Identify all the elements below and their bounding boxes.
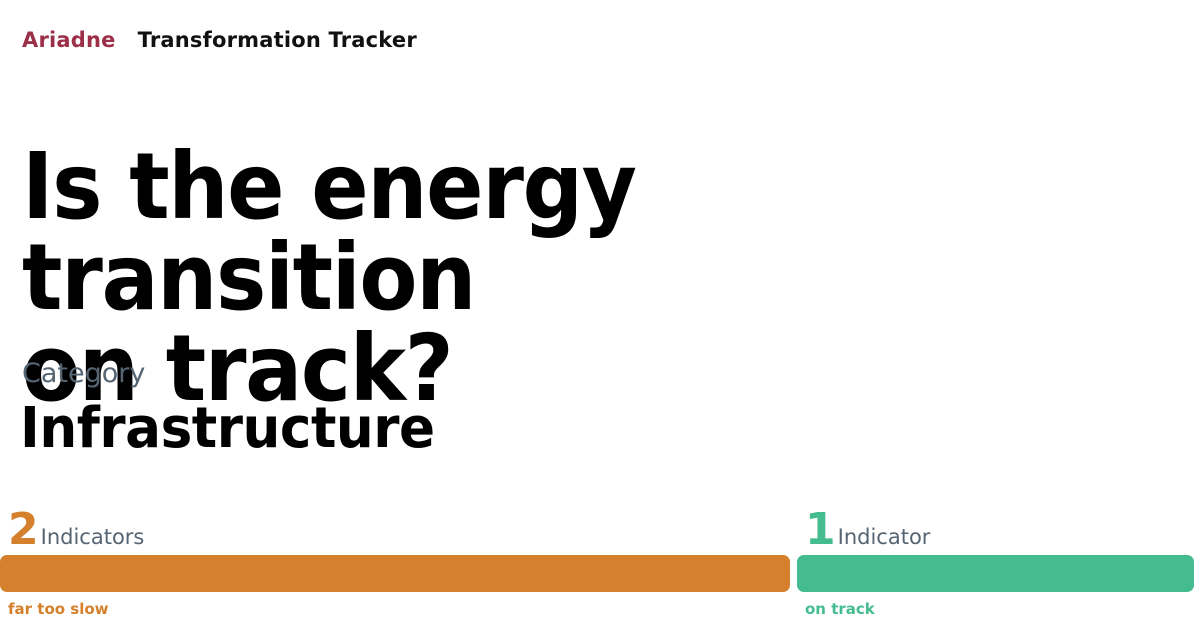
category-label: Category xyxy=(22,358,145,389)
page-title-line-1: Is the energy transition xyxy=(22,133,636,331)
segment-far-too-slow-bar[interactable] xyxy=(0,555,790,592)
page-title: Is the energy transition on track? xyxy=(22,141,1089,414)
tracker-summary-card: Ariadne Transformation Tracker Is the en… xyxy=(0,0,1200,630)
segment-far-too-slow-count: 2 xyxy=(8,508,38,552)
brand-name: Ariadne xyxy=(22,28,116,52)
segment-on-track-bar[interactable] xyxy=(797,555,1194,592)
segment-on-track-caption: on track xyxy=(805,600,875,618)
segment-far-too-slow-head: 2 Indicators xyxy=(8,508,144,552)
segment-far-too-slow-caption: far too slow xyxy=(8,600,109,618)
category-value: Infrastructure xyxy=(20,396,435,461)
segment-on-track-head: 1 Indicator xyxy=(805,508,930,552)
segment-on-track-unit: Indicator xyxy=(838,527,931,548)
brand-bar: Ariadne Transformation Tracker xyxy=(22,28,417,52)
segment-on-track-count: 1 xyxy=(805,508,835,552)
product-name: Transformation Tracker xyxy=(138,28,417,52)
segment-far-too-slow-unit: Indicators xyxy=(41,527,145,548)
